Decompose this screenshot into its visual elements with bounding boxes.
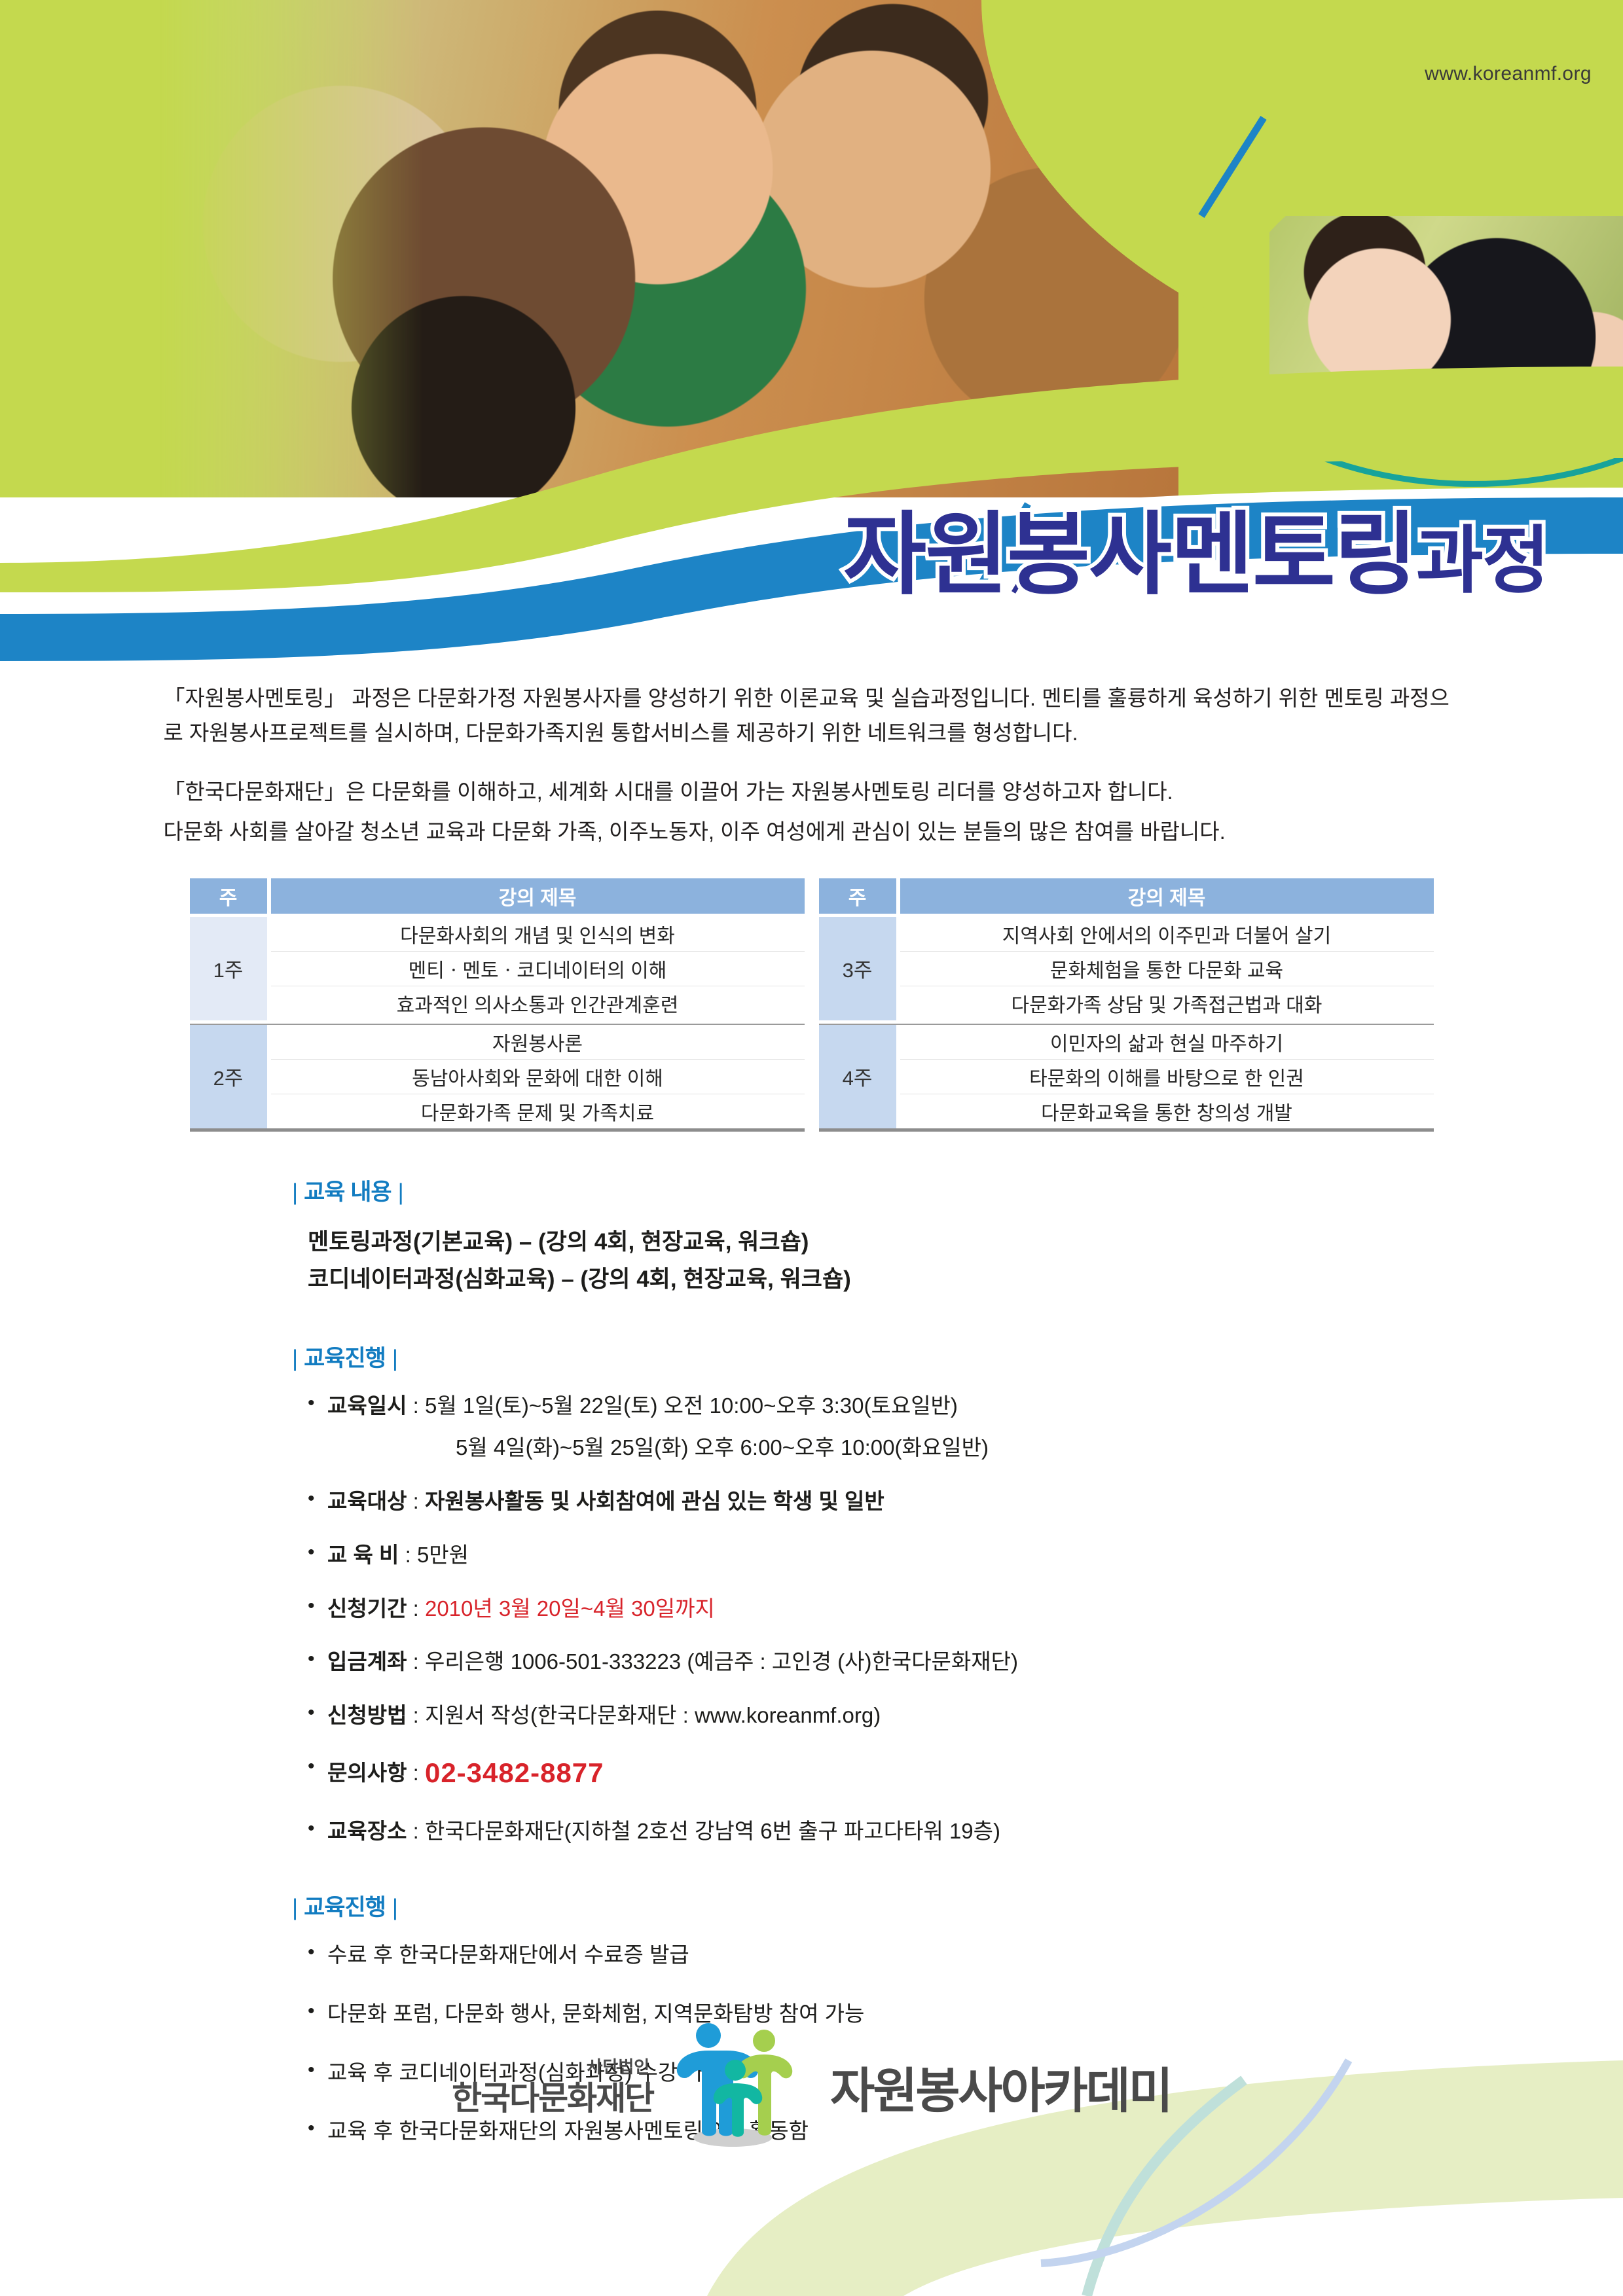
course-content-lines: 멘토링과정(기본교육) – (강의 4회, 현장교육, 워크숍) 코디네이터과정…	[308, 1224, 1623, 1298]
week-label: 1주	[190, 917, 267, 1020]
section-heading-benefits: |교육진행|	[285, 1889, 1623, 1922]
intro-paragraph-3: 다문화 사회를 살아갈 청소년 교육과 다문화 가족, 이주노동자, 이주 여성…	[164, 814, 1460, 849]
course-content-line: 멘토링과정(기본교육) – (강의 4회, 현장교육, 워크숍)	[308, 1224, 1623, 1261]
column-header-lecture-title: 강의 제목	[900, 878, 1434, 914]
table-bottom-rule	[190, 1128, 805, 1132]
lesson-list: 지역사회 안에서의 이주민과 더불어 살기 문화체험을 통한 다문화 교육 다문…	[900, 917, 1434, 1020]
week-label: 2주	[190, 1025, 267, 1128]
lesson-item: 다문화가족 문제 및 가족치료	[271, 1094, 805, 1128]
section-heading-text: 교육 내용	[304, 1179, 392, 1205]
table-header-row: 주 강의 제목	[819, 878, 1434, 914]
lesson-item: 멘티ㆍ멘토ㆍ코디네이터의 이해	[271, 952, 805, 986]
lesson-list: 이민자의 삶과 현실 마주하기 타문화의 이해를 바탕으로 한 인권 다문화교육…	[900, 1025, 1434, 1128]
lesson-item: 동남아사회와 문화에 대한 이해	[271, 1060, 805, 1094]
page-title-sub: 과정	[1416, 520, 1548, 601]
foundation-name: 한국다문화재단	[452, 2082, 653, 2115]
lesson-item: 문화체험을 통한 다문화 교육	[900, 952, 1434, 986]
detail-value: 우리은행 1006-501-333223 (예금주 : 고인경 (사)한국다문화…	[425, 1649, 1018, 1674]
detail-item-fee: 교 육 비 : 5만원	[308, 1539, 1623, 1571]
detail-item-application-period: 신청기간 : 2010년 3월 20일~4월 30일까지	[308, 1593, 1623, 1624]
section-heading-text: 교육진행	[304, 1895, 386, 1920]
table-header-row: 주 강의 제목	[190, 878, 805, 914]
heading-bar-right: |	[386, 1346, 404, 1371]
website-url[interactable]: www.koreanmf.org	[1425, 63, 1592, 85]
poster-header: www.koreanmf.org 자원봉사멘토링과정	[0, 0, 1623, 661]
detail-item-schedule: 교육일시 : 5월 1일(토)~5월 22일(토) 오전 10:00~오후 3:…	[308, 1390, 1623, 1463]
detail-label: 문의사항	[327, 1761, 407, 1785]
week-label: 4주	[819, 1025, 896, 1128]
people-logo-icon	[670, 2021, 795, 2152]
section-heading-course-progress: |교육진행|	[285, 1340, 1623, 1373]
course-detail-list: 교육일시 : 5월 1일(토)~5월 22일(토) 오전 10:00~오후 3:…	[308, 1390, 1623, 1847]
detail-label: 신청방법	[327, 1703, 407, 1727]
lesson-item: 다문화교육을 통한 창의성 개발	[900, 1094, 1434, 1128]
page-title: 자원봉사멘토링과정	[0, 481, 1548, 612]
poster-footer: 사단법인 한국다문화재단 자원봉사아카데미	[0, 1982, 1623, 2296]
heading-bar-left: |	[285, 1346, 304, 1371]
lesson-item: 지역사회 안에서의 이주민과 더불어 살기	[900, 917, 1434, 952]
detail-item-target: 교육대상 : 자원봉사활동 및 사회참여에 관심 있는 학생 및 일반	[308, 1486, 1623, 1517]
detail-value: 5만원	[417, 1543, 469, 1567]
contact-phone-number[interactable]: 02-3482-8877	[425, 1757, 604, 1788]
detail-label: 교육일시	[327, 1393, 407, 1418]
detail-item-apply-method: 신청방법 : 지원서 작성(한국다문화재단 : www.koreanmf.org…	[308, 1700, 1623, 1731]
lesson-item: 타문화의 이해를 바탕으로 한 인권	[900, 1060, 1434, 1094]
section-heading-course-content: |교육 내용|	[285, 1174, 1623, 1207]
lesson-item: 효과적인 의사소통과 인간관계훈련	[271, 986, 805, 1020]
intro-block: 「자원봉사멘토링」 과정은 다문화가정 자원봉사자를 양성하기 위한 이론교육 …	[164, 681, 1460, 850]
heading-bar-left: |	[285, 1895, 304, 1920]
intro-paragraph-1: 「자원봉사멘토링」 과정은 다문화가정 자원봉사자를 양성하기 위한 이론교육 …	[164, 681, 1460, 751]
detail-item-location: 교육장소 : 한국다문화재단(지하철 2호선 강남역 6번 출구 파고다타워 1…	[308, 1816, 1623, 1847]
detail-item-contact: 문의사항 : 02-3482-8877	[308, 1753, 1623, 1793]
column-header-lecture-title: 강의 제목	[271, 878, 805, 914]
heading-bar-right: |	[386, 1895, 404, 1920]
detail-value: 2010년 3월 20일~4월 30일까지	[425, 1596, 715, 1621]
curriculum-table-left: 주 강의 제목 1주 다문화사회의 개념 및 인식의 변화 멘티ㆍ멘토ㆍ코디네이…	[190, 878, 805, 1132]
detail-value: 자원봉사활동 및 사회참여에 관심 있는 학생 및 일반	[425, 1489, 884, 1513]
table-row: 1주 다문화사회의 개념 및 인식의 변화 멘티ㆍ멘토ㆍ코디네이터의 이해 효과…	[190, 917, 805, 1020]
table-row: 2주 자원봉사론 동남아사회와 문화에 대한 이해 다문화가족 문제 및 가족치…	[190, 1024, 805, 1128]
detail-label: 신청기간	[327, 1596, 407, 1621]
page-title-main: 자원봉사멘토링	[843, 505, 1416, 605]
section-heading-text: 교육진행	[304, 1346, 386, 1371]
week-label: 3주	[819, 917, 896, 1020]
lesson-list: 자원봉사론 동남아사회와 문화에 대한 이해 다문화가족 문제 및 가족치료	[271, 1025, 805, 1128]
academy-title: 자원봉사아카데미	[830, 2052, 1171, 2122]
curriculum-table-right: 주 강의 제목 3주 지역사회 안에서의 이주민과 더불어 살기 문화체험을 통…	[819, 878, 1434, 1132]
benefit-item: 수료 후 한국다문화재단에서 수료증 발급	[308, 1939, 1623, 1971]
intro-paragraph-2: 「한국다문화재단」은 다문화를 이해하고, 세계화 시대를 이끌어 가는 자원봉…	[164, 774, 1460, 809]
lesson-item: 이민자의 삶과 현실 마주하기	[900, 1025, 1434, 1060]
table-row: 4주 이민자의 삶과 현실 마주하기 타문화의 이해를 바탕으로 한 인권 다문…	[819, 1024, 1434, 1128]
table-bottom-rule	[819, 1128, 1434, 1132]
foundation-wordmark: 사단법인 한국다문화재단	[452, 2058, 653, 2115]
poster-content: 「자원봉사멘토링」 과정은 다문화가정 자원봉사자를 양성하기 위한 이론교육 …	[0, 681, 1623, 2174]
column-header-week: 주	[190, 878, 267, 914]
heading-bar-left: |	[285, 1179, 304, 1205]
detail-value-line1: 5월 1일(토)~5월 22일(토) 오전 10:00~오후 3:30(토요일반…	[425, 1393, 958, 1418]
lesson-list: 다문화사회의 개념 및 인식의 변화 멘티ㆍ멘토ㆍ코디네이터의 이해 효과적인 …	[271, 917, 805, 1020]
course-content-line: 코디네이터과정(심화교육) – (강의 4회, 현장교육, 워크숍)	[308, 1261, 1623, 1299]
detail-label: 교육장소	[327, 1819, 407, 1843]
detail-value: 한국다문화재단(지하철 2호선 강남역 6번 출구 파고다타워 19층)	[425, 1819, 1000, 1843]
table-row: 3주 지역사회 안에서의 이주민과 더불어 살기 문화체험을 통한 다문화 교육…	[819, 917, 1434, 1020]
footer-logo-row: 사단법인 한국다문화재단 자원봉사아카데미	[0, 2021, 1623, 2152]
detail-label: 입금계좌	[327, 1649, 407, 1674]
lesson-item: 다문화사회의 개념 및 인식의 변화	[271, 917, 805, 952]
detail-label: 교 육 비	[327, 1543, 399, 1567]
detail-value-line2: 5월 4일(화)~5월 25일(화) 오후 6:00~오후 10:00(화요일반…	[456, 1432, 1623, 1463]
heading-bar-right: |	[392, 1179, 410, 1205]
column-header-week: 주	[819, 878, 896, 914]
curriculum-table: 주 강의 제목 1주 다문화사회의 개념 및 인식의 변화 멘티ㆍ멘토ㆍ코디네이…	[190, 878, 1434, 1132]
lesson-item: 자원봉사론	[271, 1025, 805, 1060]
detail-value[interactable]: 지원서 작성(한국다문화재단 : www.koreanmf.org)	[425, 1703, 881, 1727]
foundation-prefix: 사단법인	[587, 2058, 649, 2075]
lesson-item: 다문화가족 상담 및 가족접근법과 대화	[900, 986, 1434, 1020]
detail-label: 교육대상	[327, 1489, 407, 1513]
detail-item-bank-account: 입금계좌 : 우리은행 1006-501-333223 (예금주 : 고인경 (…	[308, 1646, 1623, 1677]
